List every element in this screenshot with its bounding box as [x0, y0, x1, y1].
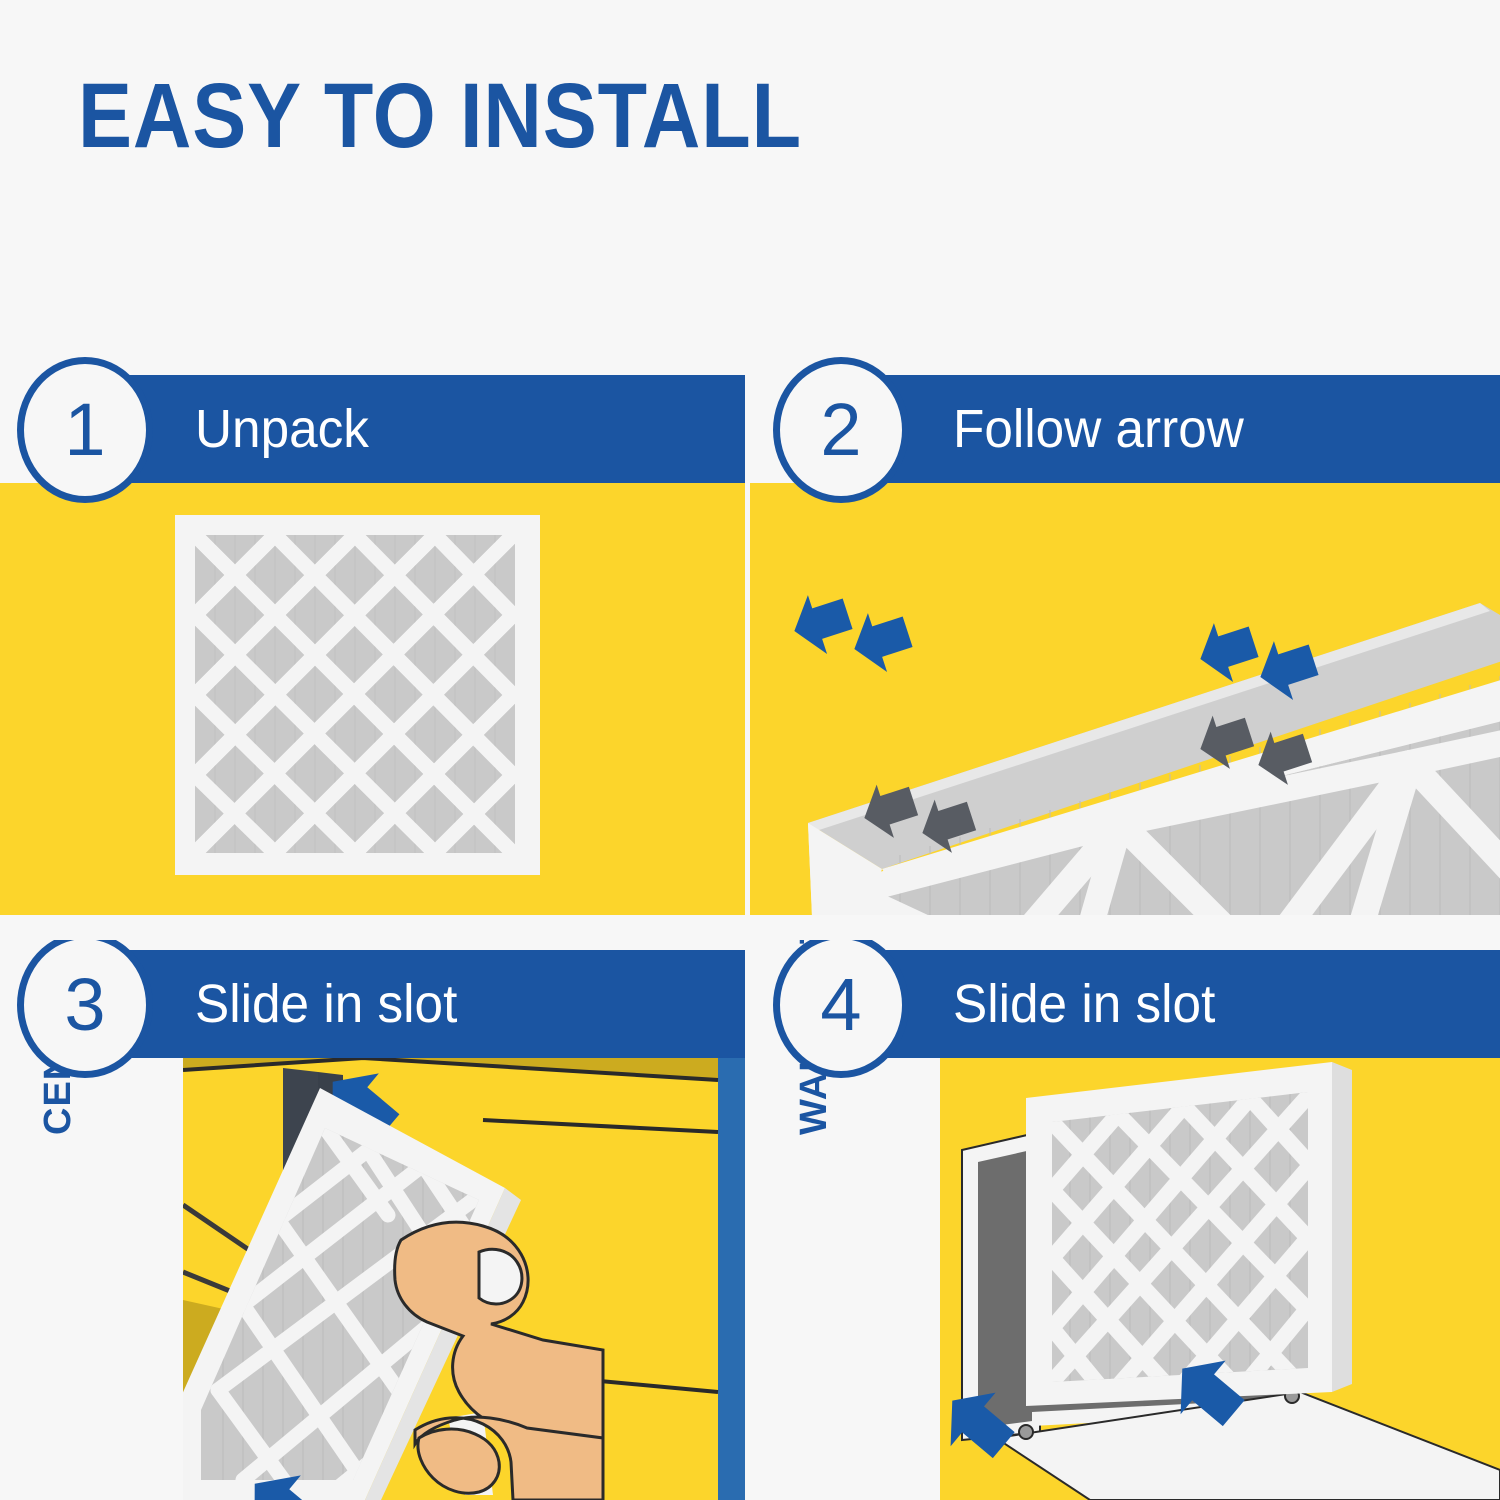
- step-1-header: Unpack: [55, 375, 745, 483]
- step-1-illustration-area: [0, 483, 745, 915]
- central-unit-scene-icon: [183, 1040, 745, 1500]
- step-panel-4: Slide in slot 4 WALL UNIT: [750, 940, 1500, 1500]
- step-4-illustration-area: [940, 1040, 1500, 1500]
- step-2-header: Follow arrow: [805, 375, 1500, 483]
- step-panel-2: Follow arrow 2: [750, 355, 1500, 915]
- air-filter-front-icon: [175, 515, 545, 875]
- step-panel-3: Slide in slot 3 CENTRAL UNIT: [0, 940, 750, 1500]
- arrow-up-left-blue-icon-left2: [845, 603, 917, 679]
- infographic-root: EASY TO INSTALL: [0, 0, 1500, 1500]
- air-filter-tilted-icon: [790, 533, 1500, 915]
- step-2-number: 2: [820, 393, 861, 467]
- step-4-header: Slide in slot: [805, 950, 1500, 1058]
- step-panel-1: Unpack 1: [0, 355, 750, 915]
- step-2-number-badge: 2: [773, 357, 909, 503]
- step-1-label: Unpack: [195, 398, 369, 460]
- arrow-up-left-blue-icon-left: [790, 585, 858, 661]
- step-1-number: 1: [64, 393, 105, 467]
- step-3-illustration-area: [183, 1040, 745, 1500]
- step-1-number-badge: 1: [17, 357, 153, 503]
- page-title: EASY TO INSTALL: [78, 70, 802, 162]
- step-4-label: Slide in slot: [953, 973, 1215, 1035]
- step-2-label: Follow arrow: [953, 398, 1244, 460]
- step-2-illustration-area: [750, 483, 1500, 915]
- step-4-number: 4: [820, 968, 861, 1042]
- step-3-header: Slide in slot: [55, 950, 745, 1058]
- step-3-label: Slide in slot: [195, 973, 457, 1035]
- step-3-number: 3: [64, 968, 105, 1042]
- wall-unit-scene-icon: [940, 1040, 1500, 1500]
